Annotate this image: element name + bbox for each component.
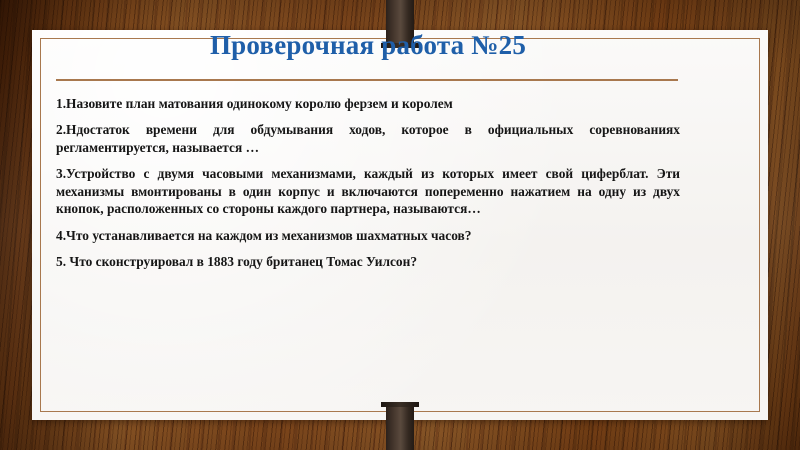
clip-bottom [386, 402, 414, 450]
clip-bottom-foot [381, 402, 419, 407]
list-item: 1.Назовите план матования одинокому коро… [56, 95, 680, 112]
title-divider [56, 79, 678, 81]
question-list: 1.Назовите план матования одинокому коро… [56, 95, 680, 270]
list-item: 4.Что устанавливается на каждом из механ… [56, 227, 680, 244]
list-item: 3.Устройство с двумя часовыми механизмам… [56, 165, 680, 217]
list-item: 5. Что сконструировал в 1883 году британ… [56, 253, 680, 270]
list-item: 2.Ндостаток времени для обдумывания ходо… [56, 121, 680, 156]
slide-canvas: Проверочная работа №25 1.Назовите план м… [0, 0, 800, 450]
slide-content: Проверочная работа №25 1.Назовите план м… [56, 30, 680, 270]
page-title: Проверочная работа №25 [56, 30, 680, 61]
